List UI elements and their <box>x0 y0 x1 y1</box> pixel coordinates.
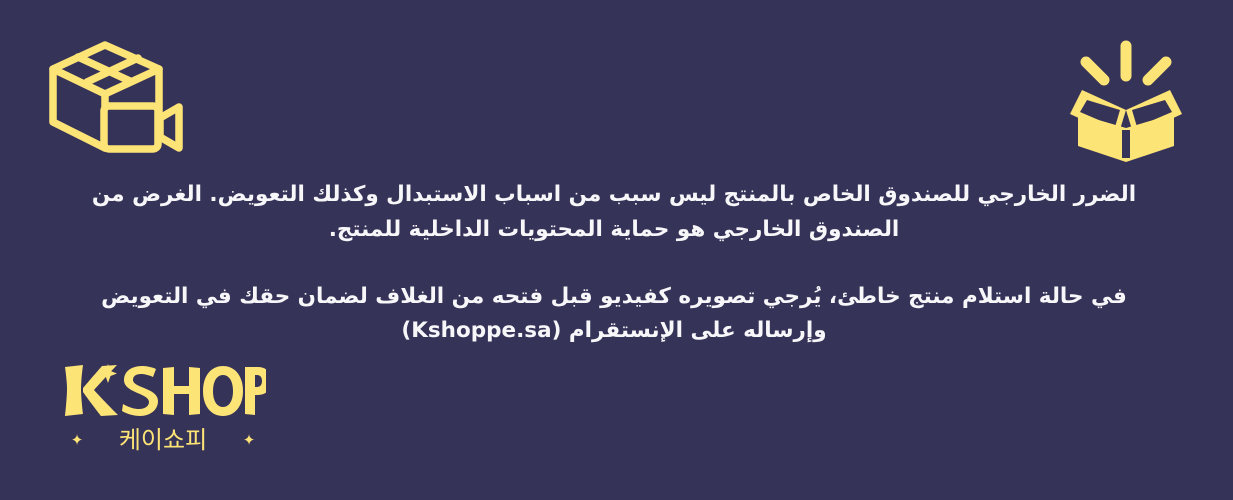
kshoppe-logo: ✦ 케이쇼피 ✦ <box>46 362 266 462</box>
return-policy-banner: الضرر الخارجي للصندوق الخاص بالمنتج ليس … <box>0 0 1233 500</box>
logo-korean-subtitle: ✦ 케이쇼피 ✦ <box>61 422 266 456</box>
open-box-burst-icon <box>1052 36 1200 166</box>
logo-sparkle-left: ✦ <box>71 431 84 449</box>
policy-paragraph-outer-box-damage: الضرر الخارجي للصندوق الخاص بالمنتج ليس … <box>80 178 1148 248</box>
policy-copy: الضرر الخارجي للصندوق الخاص بالمنتج ليس … <box>80 178 1148 349</box>
logo-wordmark <box>61 362 266 418</box>
logo-sparkle-right: ✦ <box>243 431 256 449</box>
logo-korean-text: 케이쇼피 <box>119 426 207 454</box>
box-with-video-camera-icon <box>42 38 192 163</box>
policy-paragraph-video-proof: في حالة استلام منتج خاطئ، يُرجي تصويره ك… <box>80 280 1148 350</box>
